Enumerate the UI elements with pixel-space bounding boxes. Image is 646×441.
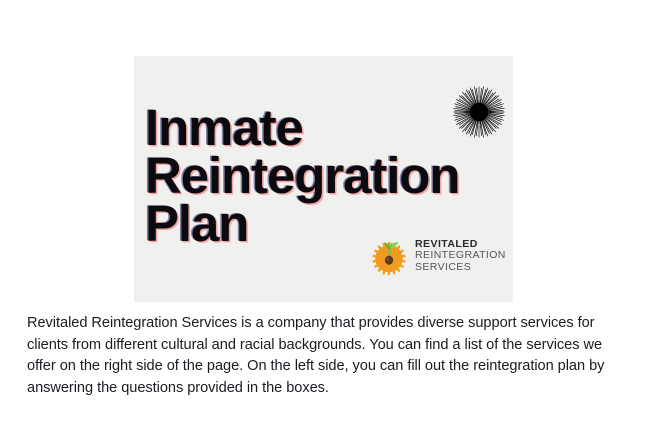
page-title: Inmate Reintegration Plan	[145, 104, 475, 248]
sunflower-icon	[370, 237, 408, 275]
brand-name-line3: SERVICES	[415, 262, 506, 274]
starburst-icon	[452, 85, 506, 139]
brand-wordmark: REVITALED REINTEGRATION SERVICES	[415, 239, 506, 274]
intro-paragraph: Revitaled Reintegration Services is a co…	[27, 313, 615, 399]
brand-logo: REVITALED REINTEGRATION SERVICES	[370, 237, 506, 275]
hero-card: Inmate Reintegration Plan	[134, 56, 513, 302]
